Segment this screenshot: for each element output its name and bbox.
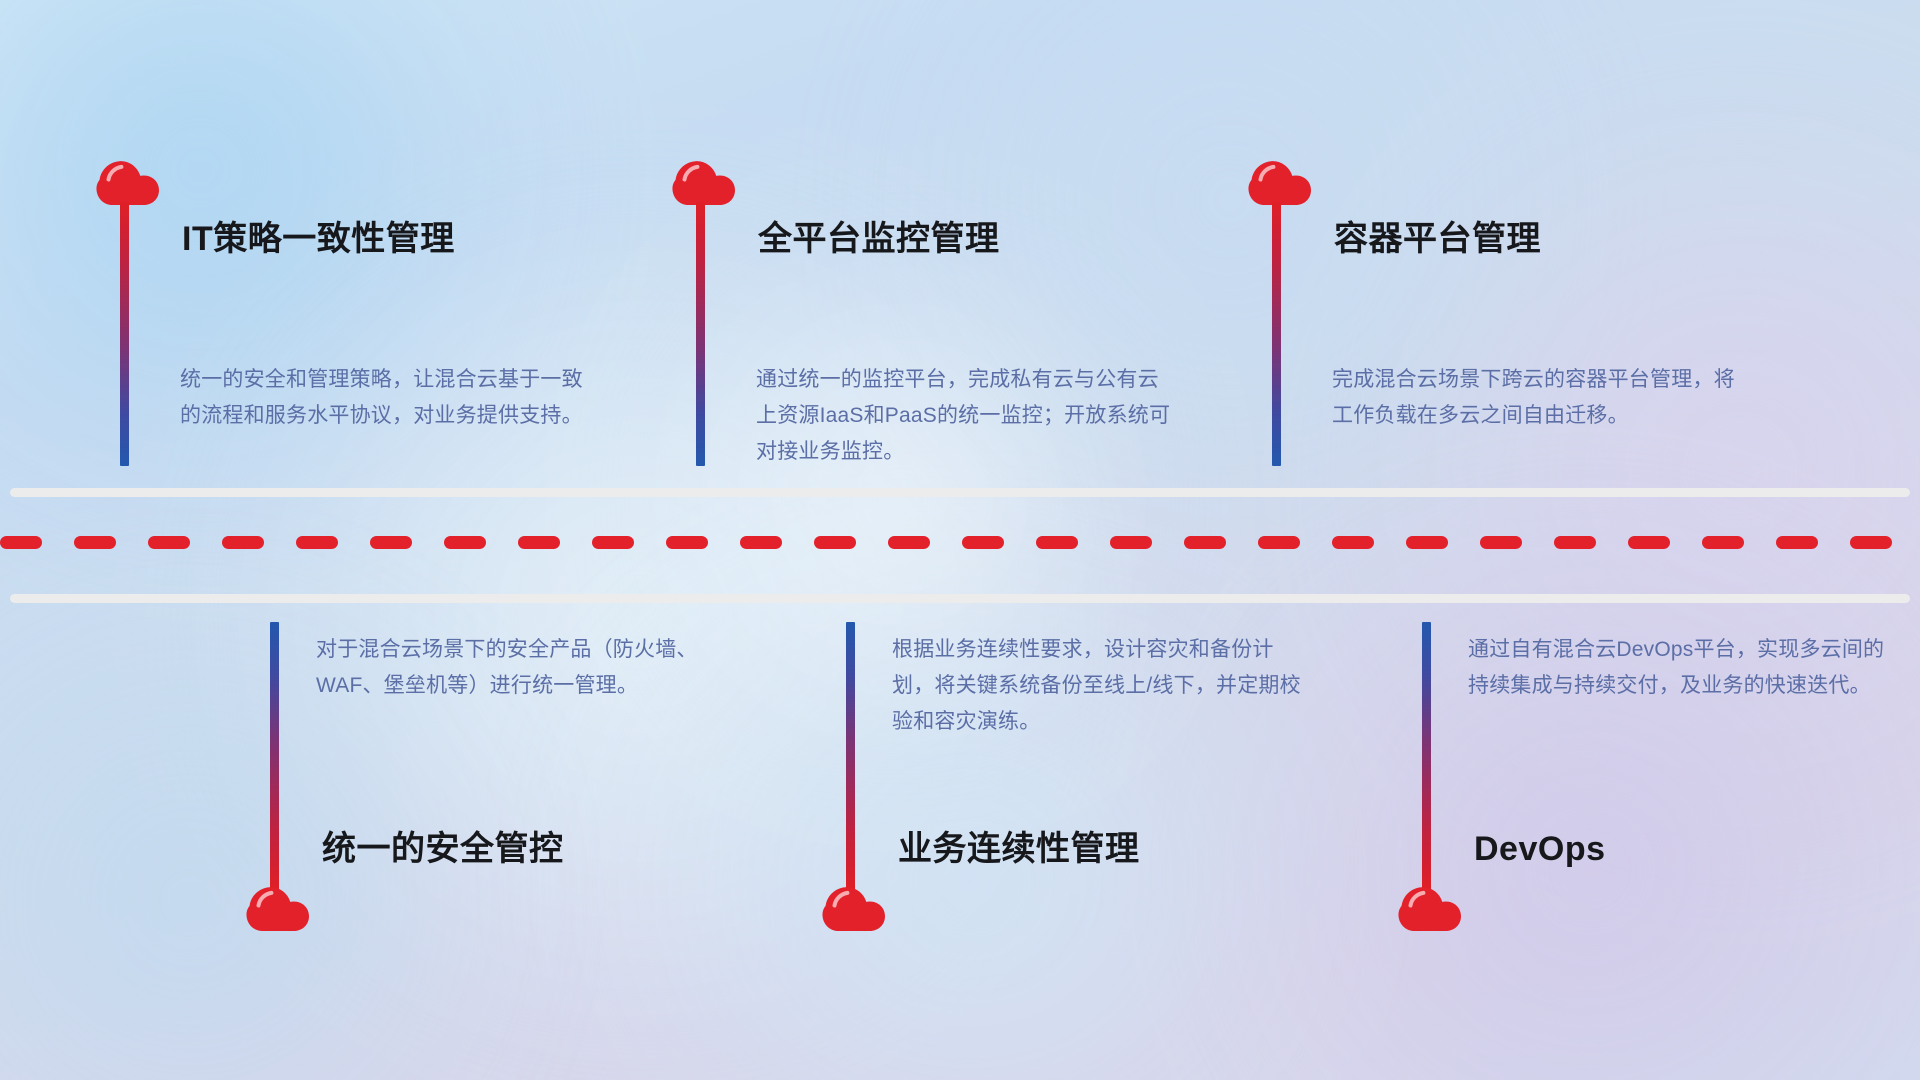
bottom-title-1: 统一的安全管控 <box>322 832 564 866</box>
road-dash <box>592 536 634 549</box>
road-dash <box>518 536 560 549</box>
road-dash-row <box>0 536 1920 549</box>
road-dash <box>74 536 116 549</box>
road-dash <box>370 536 412 549</box>
top-title-3: 容器平台管理 <box>1334 222 1541 256</box>
road-dash <box>1258 536 1300 549</box>
bottom-body-1: 对于混合云场景下的安全产品（防火墙、WAF、堡垒机等）进行统一管理。 <box>316 632 734 704</box>
bottom-marker-2 <box>822 622 892 942</box>
road-line-top <box>10 488 1910 497</box>
timeline-pole <box>1422 622 1431 890</box>
road-dash <box>0 536 42 549</box>
bottom-marker-1 <box>246 622 316 942</box>
road-dash <box>1702 536 1744 549</box>
road-dash <box>1036 536 1078 549</box>
road-dash <box>1406 536 1448 549</box>
road-dash <box>888 536 930 549</box>
timeline-pole <box>120 202 129 466</box>
bottom-title-3: DevOps <box>1474 832 1606 866</box>
cloud-icon <box>1248 160 1312 206</box>
cloud-icon <box>822 886 886 932</box>
road-divider <box>0 488 1920 608</box>
top-marker-3 <box>1248 160 1318 470</box>
cloud-icon <box>246 886 310 932</box>
road-dash <box>1184 536 1226 549</box>
top-marker-2 <box>672 160 742 470</box>
road-dash <box>666 536 708 549</box>
top-title-2: 全平台监控管理 <box>758 222 1000 256</box>
road-dash <box>1110 536 1152 549</box>
road-dash <box>148 536 190 549</box>
top-title-1: IT策略一致性管理 <box>182 222 455 256</box>
road-dash <box>1776 536 1818 549</box>
road-dash <box>740 536 782 549</box>
bottom-body-3: 通过自有混合云DevOps平台，实现多云间的持续集成与持续交付，及业务的快速迭代… <box>1468 632 1886 704</box>
bottom-body-2: 根据业务连续性要求，设计容灾和备份计划，将关键系统备份至线上/线下，并定期校验和… <box>892 632 1310 740</box>
road-dash <box>1480 536 1522 549</box>
bottom-title-2: 业务连续性管理 <box>898 832 1140 866</box>
road-dash <box>1554 536 1596 549</box>
road-dash <box>222 536 264 549</box>
road-dash <box>444 536 486 549</box>
timeline-pole <box>1272 202 1281 466</box>
top-body-3: 完成混合云场景下跨云的容器平台管理，将工作负载在多云之间自由迁移。 <box>1332 362 1750 434</box>
timeline-pole <box>270 622 279 890</box>
cloud-icon <box>96 160 160 206</box>
top-body-1: 统一的安全和管理策略，让混合云基于一致的流程和服务水平协议，对业务提供支持。 <box>180 362 598 434</box>
bottom-marker-3 <box>1398 622 1468 942</box>
top-marker-1 <box>96 160 166 470</box>
road-dash <box>1628 536 1670 549</box>
cloud-icon <box>672 160 736 206</box>
road-dash <box>1850 536 1892 549</box>
road-line-bottom <box>10 594 1910 603</box>
road-dash <box>814 536 856 549</box>
road-dash <box>296 536 338 549</box>
road-dash <box>1332 536 1374 549</box>
road-dash <box>962 536 1004 549</box>
top-body-2: 通过统一的监控平台，完成私有云与公有云上资源IaaS和PaaS的统一监控；开放系… <box>756 362 1174 470</box>
timeline-pole <box>696 202 705 466</box>
cloud-icon <box>1398 886 1462 932</box>
timeline-pole <box>846 622 855 890</box>
